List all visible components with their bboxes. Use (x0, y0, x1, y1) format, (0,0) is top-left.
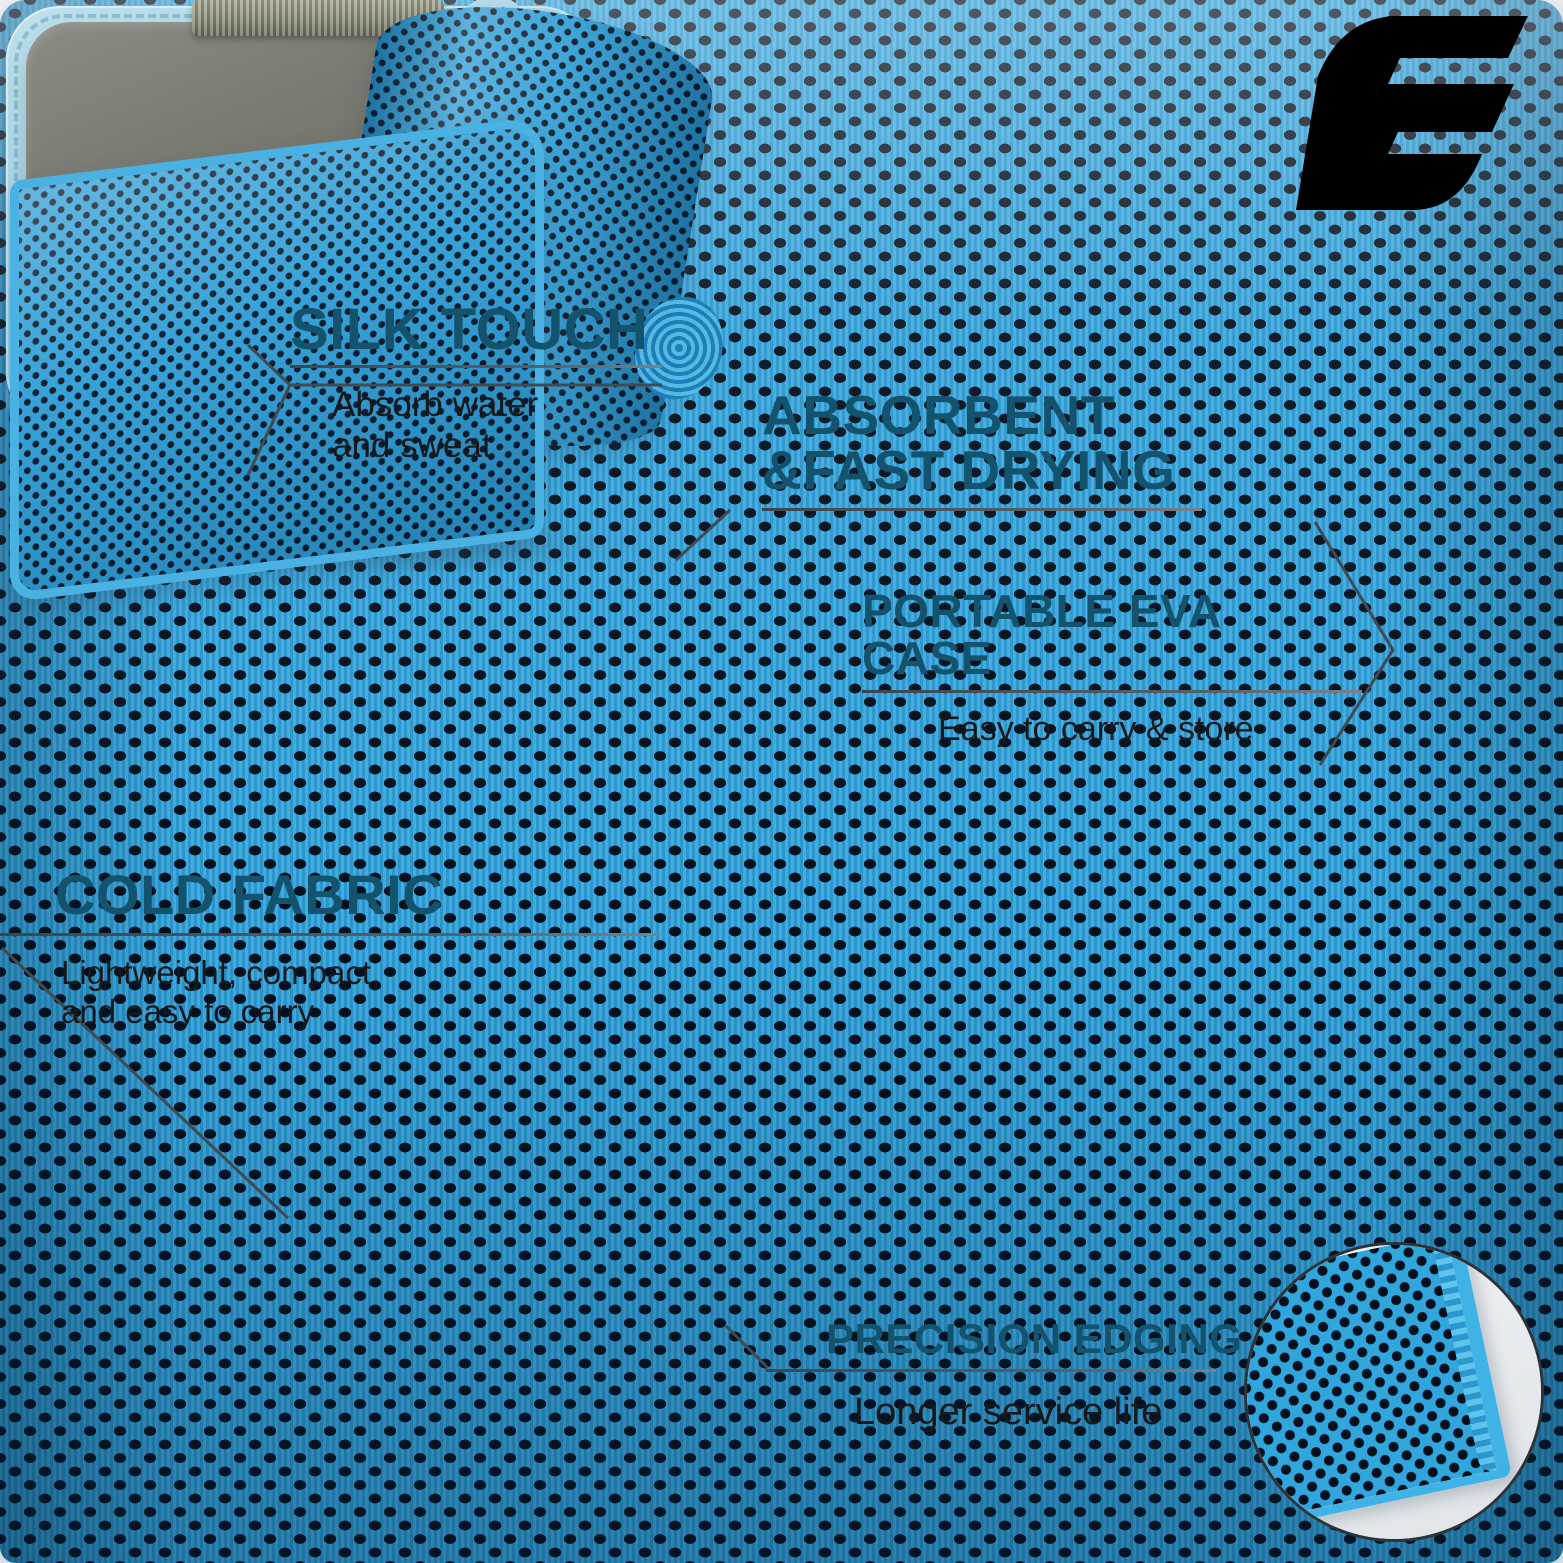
cold-fabric-rule (0, 933, 660, 936)
precision-edging-rule (766, 1369, 1216, 1372)
absorbent-rule (762, 508, 1202, 511)
precision-edging-subtitle: Longer service life (854, 1390, 1276, 1435)
silk-touch-title: SILK TOUCH (290, 300, 662, 359)
silk-touch-rule (290, 365, 662, 368)
absorbent-title: ABSORBENT &FAST DRYING (762, 388, 1202, 498)
infographic-canvas: SILK TOUCH Absorb water and sweat ABSORB… (0, 0, 1563, 1563)
eva-case-rule (862, 690, 1362, 693)
cold-fabric-title: COLD FABRIC (55, 866, 715, 923)
precision-edging-title: PRECISION EDGING (826, 1318, 1276, 1361)
feature-label-portable-eva-case: PORTABLE EVA CASE Easy to carry & store (862, 588, 1362, 749)
cold-fabric-subtitle: Lightweight, compact, and easy to carry (61, 954, 715, 1032)
feature-label-silk-touch: SILK TOUCH Absorb water and sweat (290, 300, 662, 467)
silk-touch-subtitle: Absorb water and sweat (332, 384, 662, 467)
feature-label-absorbent-fast-drying: ABSORBENT &FAST DRYING (762, 388, 1202, 511)
photo-serged-edge-closeup (1244, 1242, 1544, 1542)
eva-case-title: PORTABLE EVA CASE (862, 588, 1362, 682)
eva-case-subtitle: Easy to carry & store (938, 709, 1362, 749)
fg-monogram-logo (1296, 14, 1528, 220)
feature-label-cold-fabric: COLD FABRIC Lightweight, compact, and ea… (55, 866, 715, 1032)
feature-label-precision-edging: PRECISION EDGING Longer service life (826, 1318, 1276, 1435)
